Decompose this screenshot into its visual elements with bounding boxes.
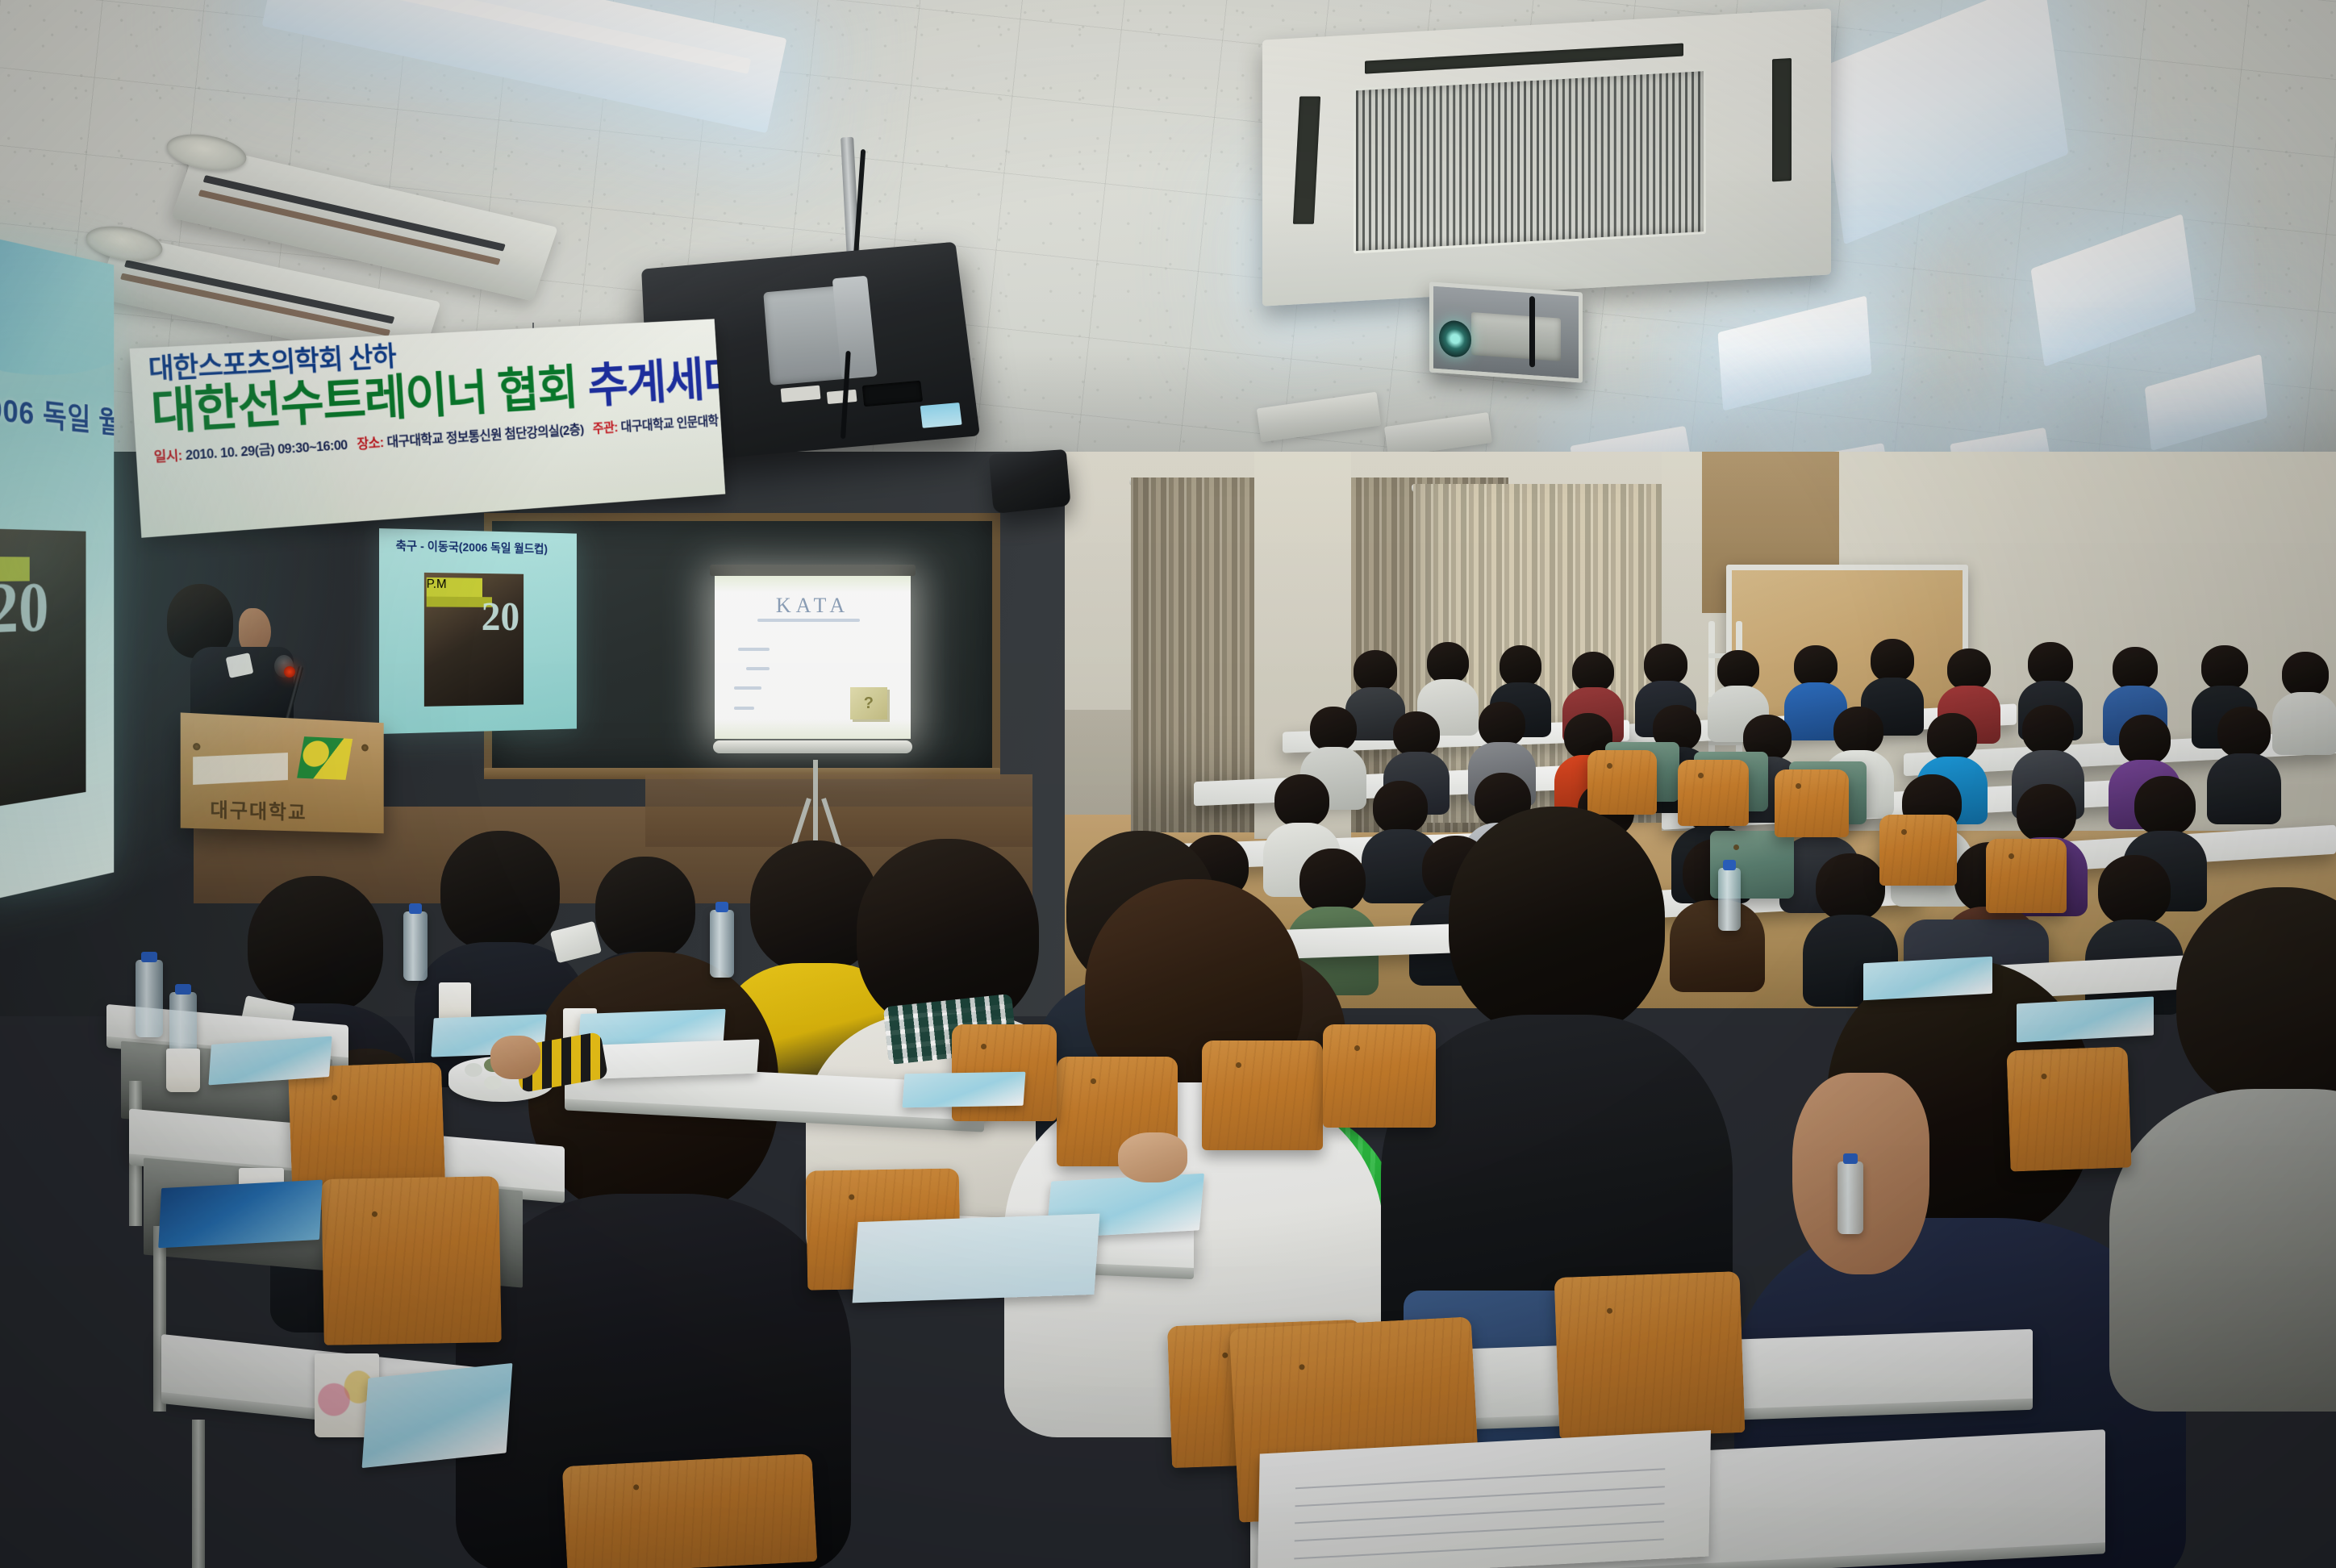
university-logo-icon [297, 737, 352, 781]
audience-member [2275, 652, 2336, 752]
head [1927, 713, 1977, 761]
head [1479, 702, 1525, 747]
bottle-cap [1843, 1153, 1858, 1164]
head [1871, 639, 1914, 682]
kata-slide-title: KATA [715, 594, 911, 618]
head [2134, 776, 2196, 836]
chair-wooden-foreground[interactable] [1554, 1271, 1746, 1439]
jersey-number-large: 20 [0, 568, 48, 650]
banner-host-value: 대구대학교 인문대학 체육학과 [620, 411, 725, 434]
head [1274, 774, 1329, 828]
document-text-line [1295, 1521, 1665, 1542]
head [1717, 650, 1759, 690]
head [2119, 715, 2171, 765]
slide-photo-small: P.M 20 [424, 572, 524, 706]
slide-text-line [734, 707, 753, 710]
banner-date-label: 일시: [153, 448, 182, 465]
banner-place-value: 대구대학교 정보통신원 첨단강의실(2층) [386, 422, 584, 449]
head [440, 831, 560, 952]
head [1947, 648, 1991, 690]
bottle-cap [141, 952, 156, 962]
hand [1118, 1132, 1187, 1182]
head [2028, 642, 2073, 686]
slide-title-small: 축구 - 이동국(2006 독일 월드컵) [396, 537, 574, 557]
banner-host-label: 주관: [592, 420, 618, 436]
head [1644, 644, 1687, 686]
head [2176, 887, 2336, 1110]
water-bottle[interactable] [1718, 868, 1741, 931]
torso [2272, 692, 2336, 755]
head [1449, 807, 1665, 1037]
screen-fabric: KATA ? [715, 576, 911, 739]
head [2017, 784, 2076, 842]
torso [2207, 753, 2281, 824]
slide-photo-caption: P.M [427, 578, 482, 597]
slide-text-line [757, 619, 859, 622]
rice-cake [465, 1063, 482, 1077]
handout-folder[interactable] [2017, 997, 2154, 1043]
jersey-number-small: 20 [482, 594, 520, 640]
head [1310, 707, 1357, 752]
bottle-cap [175, 984, 190, 995]
bottle-cap [409, 903, 423, 914]
water-bottle[interactable] [1838, 1161, 1863, 1234]
main-projection-screen: 2006 독일 월드컵 20 [0, 234, 114, 903]
slide-text-line [734, 686, 761, 690]
chair-wooden[interactable] [1986, 839, 2067, 913]
head [1427, 642, 1469, 684]
water-bottle[interactable] [136, 960, 163, 1037]
head [1393, 711, 1440, 757]
banner-title-blue: 추계세미나 [586, 350, 726, 413]
head [1572, 652, 1614, 692]
water-bottle[interactable] [403, 911, 428, 981]
attendee-grey-top-right [2113, 887, 2336, 1387]
bottle-cap [715, 902, 729, 912]
open-document[interactable] [1258, 1430, 1711, 1568]
ac-vane-top [1365, 44, 1683, 74]
open-notebook[interactable] [853, 1214, 1100, 1303]
head [595, 857, 695, 960]
screen-bottom-weight-bar [713, 740, 912, 753]
ac-return-grille [1354, 69, 1706, 253]
slide-text-line [746, 667, 770, 670]
chair-wooden-mid[interactable] [1323, 1024, 1436, 1128]
handout-folder[interactable] [903, 1072, 1026, 1108]
chair-wooden[interactable] [1587, 750, 1657, 815]
tripod-projection-screen: KATA ? [710, 565, 916, 760]
head [248, 876, 383, 1015]
tv-input-port-panel [862, 380, 924, 407]
head [1816, 853, 1885, 921]
slide-question-cube: ? [850, 687, 887, 719]
tv-energy-sticker [920, 402, 962, 428]
head [1354, 650, 1397, 692]
head [2201, 645, 2248, 690]
desk-leg [192, 1420, 205, 1568]
audience-member [2210, 707, 2278, 818]
head [2217, 707, 2271, 758]
handout-paper[interactable] [596, 1039, 760, 1078]
handout-folder[interactable] [1863, 957, 1992, 1000]
chair-wooden[interactable] [1775, 769, 1849, 837]
wall-speaker-right [989, 449, 1071, 514]
slide-title-large: 2006 독일 월드컵 [0, 381, 114, 442]
slide-photo-large: 20 [0, 528, 86, 811]
chair-wooden-foreground[interactable] [562, 1453, 818, 1568]
tv-spec-label [781, 385, 821, 402]
head [2022, 705, 2074, 755]
chair-wooden[interactable] [1879, 815, 1957, 886]
chair-wooden-foreground[interactable] [321, 1176, 502, 1345]
document-text-line [1294, 1538, 1664, 1559]
head [1794, 645, 1838, 687]
air-conditioner-cassette [1262, 8, 1831, 306]
head [2282, 652, 2329, 697]
handout-folder[interactable] [208, 1036, 332, 1086]
bottle-cap [1723, 860, 1736, 870]
head [1833, 707, 1883, 755]
lectern-podium: 대구대학교 [181, 712, 384, 833]
hand [490, 1036, 540, 1079]
banner-date-value: 2010. 10. 29(금) 09:30~16:00 [185, 437, 348, 463]
microphone-led-icon [284, 666, 295, 678]
rice-cake [484, 1076, 502, 1090]
program-booklet[interactable] [158, 1180, 323, 1249]
document-text-line [1295, 1503, 1665, 1524]
handout-folder[interactable] [362, 1363, 513, 1468]
document-text-line [1295, 1468, 1666, 1489]
water-bottle[interactable] [710, 910, 734, 978]
slide-text-line [738, 648, 770, 651]
lecture-hall-photograph: 2006 독일 월드컵 20 축구 - 이동국(2006 독일 월드컵) P.M… [0, 0, 2336, 1568]
paper-cup[interactable] [166, 1049, 200, 1092]
ac-vane-right [1772, 58, 1792, 181]
document-text-line [1295, 1486, 1665, 1507]
head [1500, 645, 1541, 687]
podium-papers [193, 753, 288, 785]
chair-wooden-mid[interactable] [1202, 1040, 1323, 1150]
banner-place-label: 장소: [357, 435, 384, 452]
podium-screw [361, 744, 369, 751]
front-wall-wood-panel-right [645, 774, 1032, 847]
wall-projected-slide: 축구 - 이동국(2006 독일 월드컵) P.M 20 [379, 528, 577, 734]
podium-university-name: 대구대학교 [210, 793, 307, 824]
podium-screw [193, 743, 200, 751]
head [2113, 647, 2158, 690]
torso [2109, 1089, 2336, 1412]
tv-model-label [827, 390, 857, 404]
chair-wooden-foreground[interactable] [2006, 1046, 2131, 1171]
ac-vane-left [1293, 96, 1320, 224]
screen-top-case [710, 565, 916, 576]
